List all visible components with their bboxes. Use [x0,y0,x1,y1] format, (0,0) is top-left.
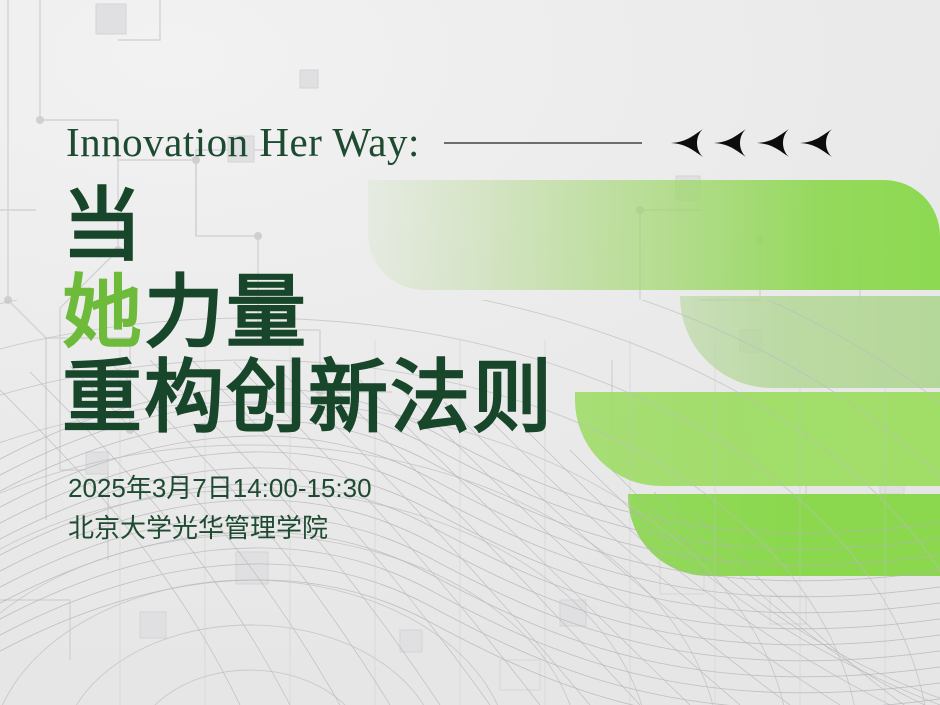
left-arrow-icon-3 [754,123,794,163]
meta-block: 2025年3月7日14:00-15:30 北京大学光华管理学院 [68,468,372,549]
left-arrow-icon-1 [668,123,708,163]
green-bar-2 [680,296,940,388]
headline-block: 当 她力量 重构创新法则 [62,186,682,438]
headline-line-3: 重构创新法则 [62,358,682,437]
page-title-english: Innovation Her Way: [66,122,420,163]
poster-canvas: Innovation Her Way: 当 她力量 重构创新法则 [0,0,940,705]
headline-line-2: 她力量 [62,273,682,352]
eyebrow-row: Innovation Her Way: [66,122,940,163]
event-venue: 北京大学光华管理学院 [68,508,372,548]
headline-line-2-rest: 力量 [144,266,308,359]
event-datetime: 2025年3月7日14:00-15:30 [68,468,372,508]
arrow-group [668,123,837,163]
divider-rule [444,142,642,144]
left-arrow-icon-2 [711,123,751,163]
left-arrow-icon-4 [797,123,837,163]
headline-accent-char: 她 [62,266,144,359]
headline-line-1: 当 [62,186,682,265]
green-bar-4 [628,494,940,576]
